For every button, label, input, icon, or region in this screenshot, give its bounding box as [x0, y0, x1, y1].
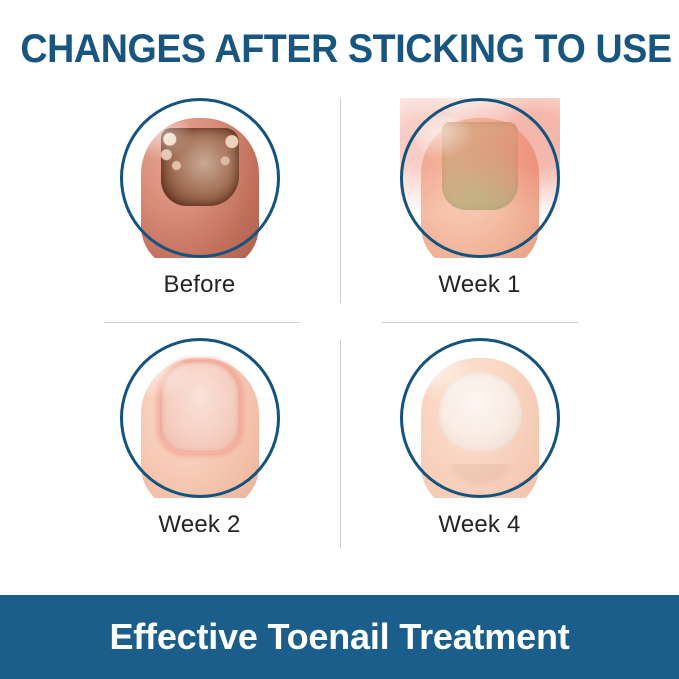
progress-cell-before: Before — [60, 92, 339, 327]
progress-cell-week-4: Week 4 — [340, 332, 619, 567]
photo-frame-week-1 — [400, 98, 560, 258]
photo-frame-week-4 — [400, 338, 560, 498]
poster-root: CHANGES AFTER STICKING TO USE Before — [0, 0, 679, 679]
page-title: CHANGES AFTER STICKING TO USE — [20, 26, 658, 72]
photo-frame-week-2 — [120, 338, 280, 498]
caption-before: Before — [60, 270, 339, 300]
bottom-banner: Effective Toenail Treatment — [0, 595, 679, 679]
progress-grid: Before Week 1 — [60, 92, 619, 562]
progress-cell-week-1: Week 1 — [340, 92, 619, 327]
skin-crease-texture — [440, 464, 520, 492]
skin-highlight — [136, 356, 194, 400]
caption-week-2: Week 2 — [60, 510, 339, 540]
skin-highlight — [136, 116, 194, 160]
skin-highlight — [416, 356, 474, 400]
caption-week-4: Week 4 — [340, 510, 619, 540]
skin-highlight — [416, 116, 474, 160]
photo-frame-before — [120, 98, 280, 258]
toenail-photo-week-2 — [120, 338, 280, 498]
banner-headline: Effective Toenail Treatment — [109, 617, 569, 657]
toenail-photo-week-1 — [400, 98, 560, 258]
toenail-photo-before — [120, 98, 280, 258]
caption-week-1: Week 1 — [340, 270, 619, 300]
progress-cell-week-2: Week 2 — [60, 332, 339, 567]
toenail-photo-week-4 — [400, 338, 560, 498]
